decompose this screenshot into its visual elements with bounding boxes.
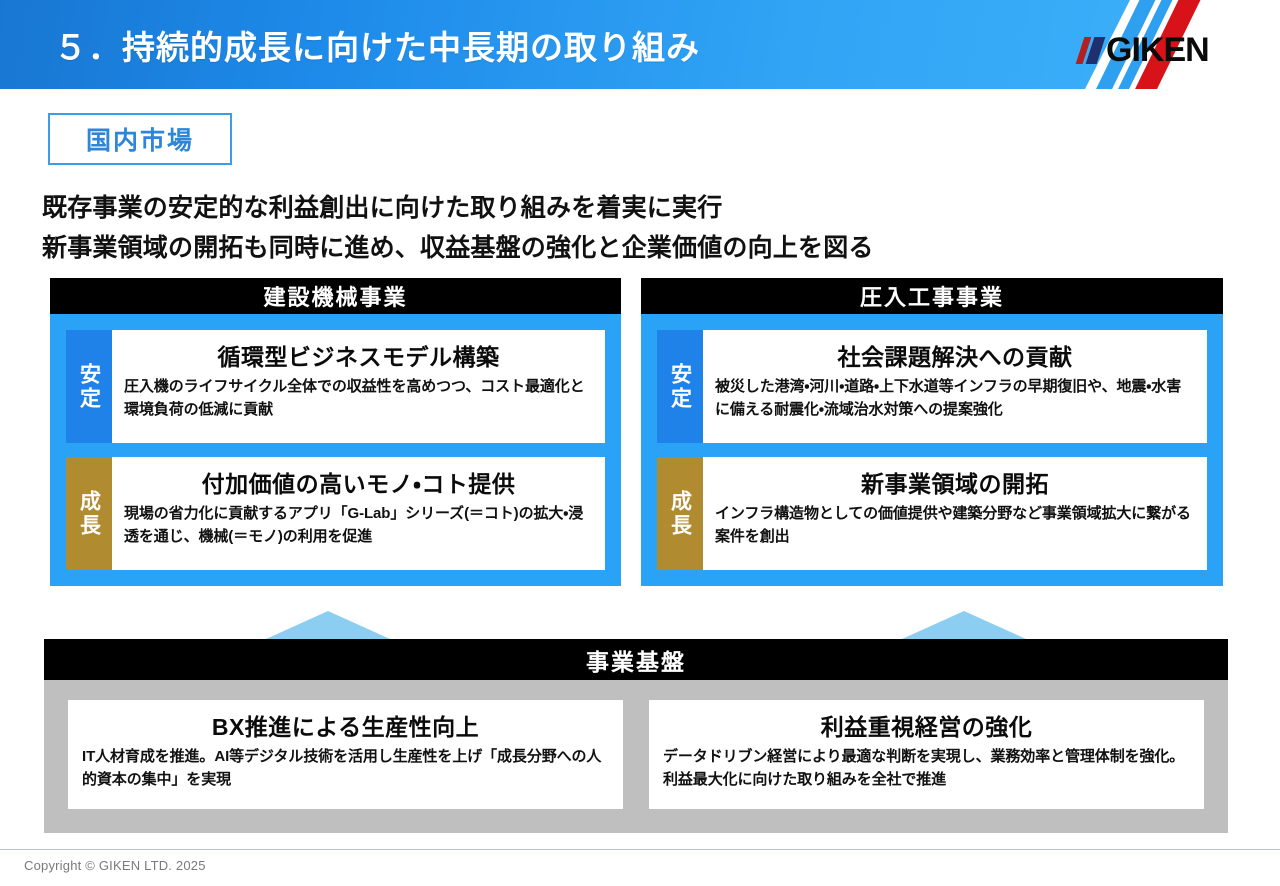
panel-header: 建設機械事業 — [50, 278, 621, 314]
foundation-header-label: 事業基盤 — [586, 643, 686, 677]
foundation-card: BX推進による生産性向上 IT人材育成を推進。AI等デジタル技術を活用し生産性を… — [68, 700, 623, 809]
initiative-tag-stability: 安定 — [66, 330, 112, 443]
initiative-item: 安定 社会課題解決への貢献 被災した港湾・河川・道路・上下水道等インフラの早期復… — [657, 330, 1207, 443]
initiative-tag-stability: 安定 — [657, 330, 703, 443]
business-foundation-section: 事業基盤 BX推進による生産性向上 IT人材育成を推進。AI等デジタル技術を活用… — [44, 639, 1228, 833]
initiative-title: 付加価値の高いモノ・コト提供 — [124, 465, 593, 499]
panel-header: 圧入工事事業 — [641, 278, 1223, 314]
initiative-body: 社会課題解決への貢献 被災した港湾・河川・道路・上下水道等インフラの早期復旧や、… — [703, 330, 1207, 443]
market-badge-label: 国内市場 — [86, 121, 194, 157]
foundation-card-title: BX推進による生産性向上 — [82, 708, 609, 742]
giken-logo: GIKEN — [1080, 34, 1209, 66]
initiative-body: 新事業領域の開拓 インフラ構造物としての価値提供や建築分野など事業領域拡大に繋が… — [703, 457, 1207, 570]
foundation-header: 事業基盤 — [44, 639, 1228, 680]
initiative-description: 被災した港湾・河川・道路・上下水道等インフラの早期復旧や、地震・水害に備える耐震… — [715, 375, 1195, 422]
initiative-item: 成長 付加価値の高いモノ・コト提供 現場の省力化に貢献するアプリ「G-Lab」シ… — [66, 457, 605, 570]
initiative-title: 新事業領域の開拓 — [715, 465, 1195, 499]
initiative-title: 循環型ビジネスモデル構築 — [124, 338, 593, 372]
foundation-card-description: データドリブン経営により最適な判断を実現し、業務効率と管理体制を強化。利益最大化… — [663, 745, 1190, 792]
panel-header-label: 建設機械事業 — [263, 280, 407, 312]
page-title: ５．持続的成長に向けた中長期の取り組み — [54, 21, 700, 69]
lead-line-2: 新事業領域の開拓も同時に進め、収益基盤の強化と企業価値の向上を図る — [42, 228, 874, 264]
initiative-description: インフラ構造物としての価値提供や建築分野など事業領域拡大に繋がる案件を創出 — [715, 502, 1195, 549]
initiative-tag-growth: 成長 — [657, 457, 703, 570]
initiative-description: 現場の省力化に貢献するアプリ「G-Lab」シリーズ(＝コト)の拡大・浸透を通じ、… — [124, 502, 593, 549]
foundation-card-description: IT人材育成を推進。AI等デジタル技術を活用し生産性を上げ「成長分野への人的資本… — [82, 745, 609, 792]
business-panel-press-in-construction: 圧入工事事業 安定 社会課題解決への貢献 被災した港湾・河川・道路・上下水道等イ… — [641, 278, 1223, 586]
foundation-card-title: 利益重視経営の強化 — [663, 708, 1190, 742]
initiative-item: 安定 循環型ビジネスモデル構築 圧入機のライフサイクル全体での収益性を高めつつ、… — [66, 330, 605, 443]
foundation-card: 利益重視経営の強化 データドリブン経営により最適な判断を実現し、業務効率と管理体… — [649, 700, 1204, 809]
arrow-up-right-icon — [902, 611, 1026, 639]
initiative-item: 成長 新事業領域の開拓 インフラ構造物としての価値提供や建築分野など事業領域拡大… — [657, 457, 1207, 570]
arrow-up-left-icon — [266, 611, 390, 639]
footer-copyright: Copyright © GIKEN LTD. 2025 — [24, 858, 206, 873]
panel-body: 安定 循環型ビジネスモデル構築 圧入機のライフサイクル全体での収益性を高めつつ、… — [50, 314, 621, 586]
footer-divider — [0, 849, 1280, 850]
lead-line-1: 既存事業の安定的な利益創出に向けた取り組みを着実に実行 — [42, 188, 722, 224]
foundation-body: BX推進による生産性向上 IT人材育成を推進。AI等デジタル技術を活用し生産性を… — [44, 680, 1228, 833]
panel-header-label: 圧入工事事業 — [860, 280, 1004, 312]
initiative-body: 付加価値の高いモノ・コト提供 現場の省力化に貢献するアプリ「G-Lab」シリーズ… — [112, 457, 605, 570]
panel-body: 安定 社会課題解決への貢献 被災した港湾・河川・道路・上下水道等インフラの早期復… — [641, 314, 1223, 586]
business-panel-construction-machinery: 建設機械事業 安定 循環型ビジネスモデル構築 圧入機のライフサイクル全体での収益… — [50, 278, 621, 586]
initiative-description: 圧入機のライフサイクル全体での収益性を高めつつ、コスト最適化と環境負荷の低減に貢… — [124, 375, 593, 422]
initiative-body: 循環型ビジネスモデル構築 圧入機のライフサイクル全体での収益性を高めつつ、コスト… — [112, 330, 605, 443]
initiative-title: 社会課題解決への貢献 — [715, 338, 1195, 372]
logo-wordmark: GIKEN — [1106, 33, 1209, 67]
initiative-tag-growth: 成長 — [66, 457, 112, 570]
market-badge: 国内市場 — [48, 113, 232, 165]
slide-header: ５．持続的成長に向けた中長期の取り組み GIKEN — [0, 0, 1280, 89]
